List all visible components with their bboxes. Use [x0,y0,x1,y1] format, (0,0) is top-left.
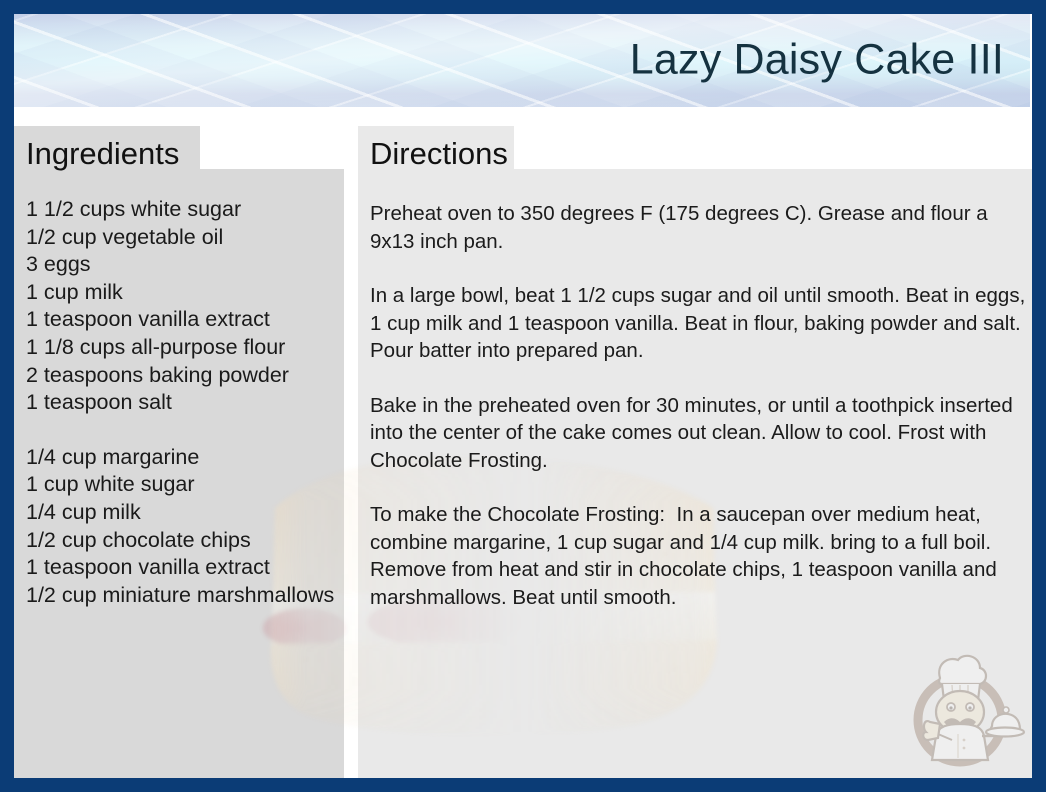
list-item: 2 teaspoons baking powder [26,362,346,390]
ingredients-heading-label: Ingredients [26,136,179,172]
list-item: 1 cup milk [26,279,346,307]
list-item: 1 teaspoon salt [26,389,346,417]
directions-heading-label: Directions [370,136,508,172]
ingredients-group-cake: 1 1/2 cups white sugar 1/2 cup vegetable… [26,196,346,417]
directions-text: Preheat oven to 350 degrees F (175 degre… [370,200,1026,611]
direction-step: Bake in the preheated oven for 30 minute… [370,392,1026,475]
list-item: 1/4 cup milk [26,499,346,527]
list-item: 3 eggs [26,251,346,279]
list-item: 1 cup white sugar [26,471,346,499]
list-item: 1/2 cup miniature marshmallows [26,582,346,610]
list-item: 1 teaspoon vanilla extract [26,554,346,582]
page-title: Lazy Daisy Cake III [630,38,1004,81]
list-item: 1/2 cup chocolate chips [26,527,346,555]
list-item: 1/2 cup vegetable oil [26,224,346,252]
list-item: 1/4 cup margarine [26,444,346,472]
ingredients-heading-tab: Ingredients [14,126,200,182]
recipe-card: Lazy Daisy Cake III [0,0,1046,792]
direction-step: To make the Chocolate Frosting: In a sau… [370,501,1026,611]
ingredients-group-divider [26,417,346,444]
list-item: 1 1/8 cups all-purpose flour [26,334,346,362]
direction-step: In a large bowl, beat 1 1/2 cups sugar a… [370,282,1026,365]
list-item: 1 1/2 cups white sugar [26,196,346,224]
ingredients-group-frosting: 1/4 cup margarine 1 cup white sugar 1/4 … [26,444,346,610]
ingredients-list: 1 1/2 cups white sugar 1/2 cup vegetable… [26,196,346,609]
title-banner: Lazy Daisy Cake III [14,14,1030,107]
direction-step: Preheat oven to 350 degrees F (175 degre… [370,200,1026,255]
directions-heading-tab: Directions [358,126,514,182]
list-item: 1 teaspoon vanilla extract [26,306,346,334]
